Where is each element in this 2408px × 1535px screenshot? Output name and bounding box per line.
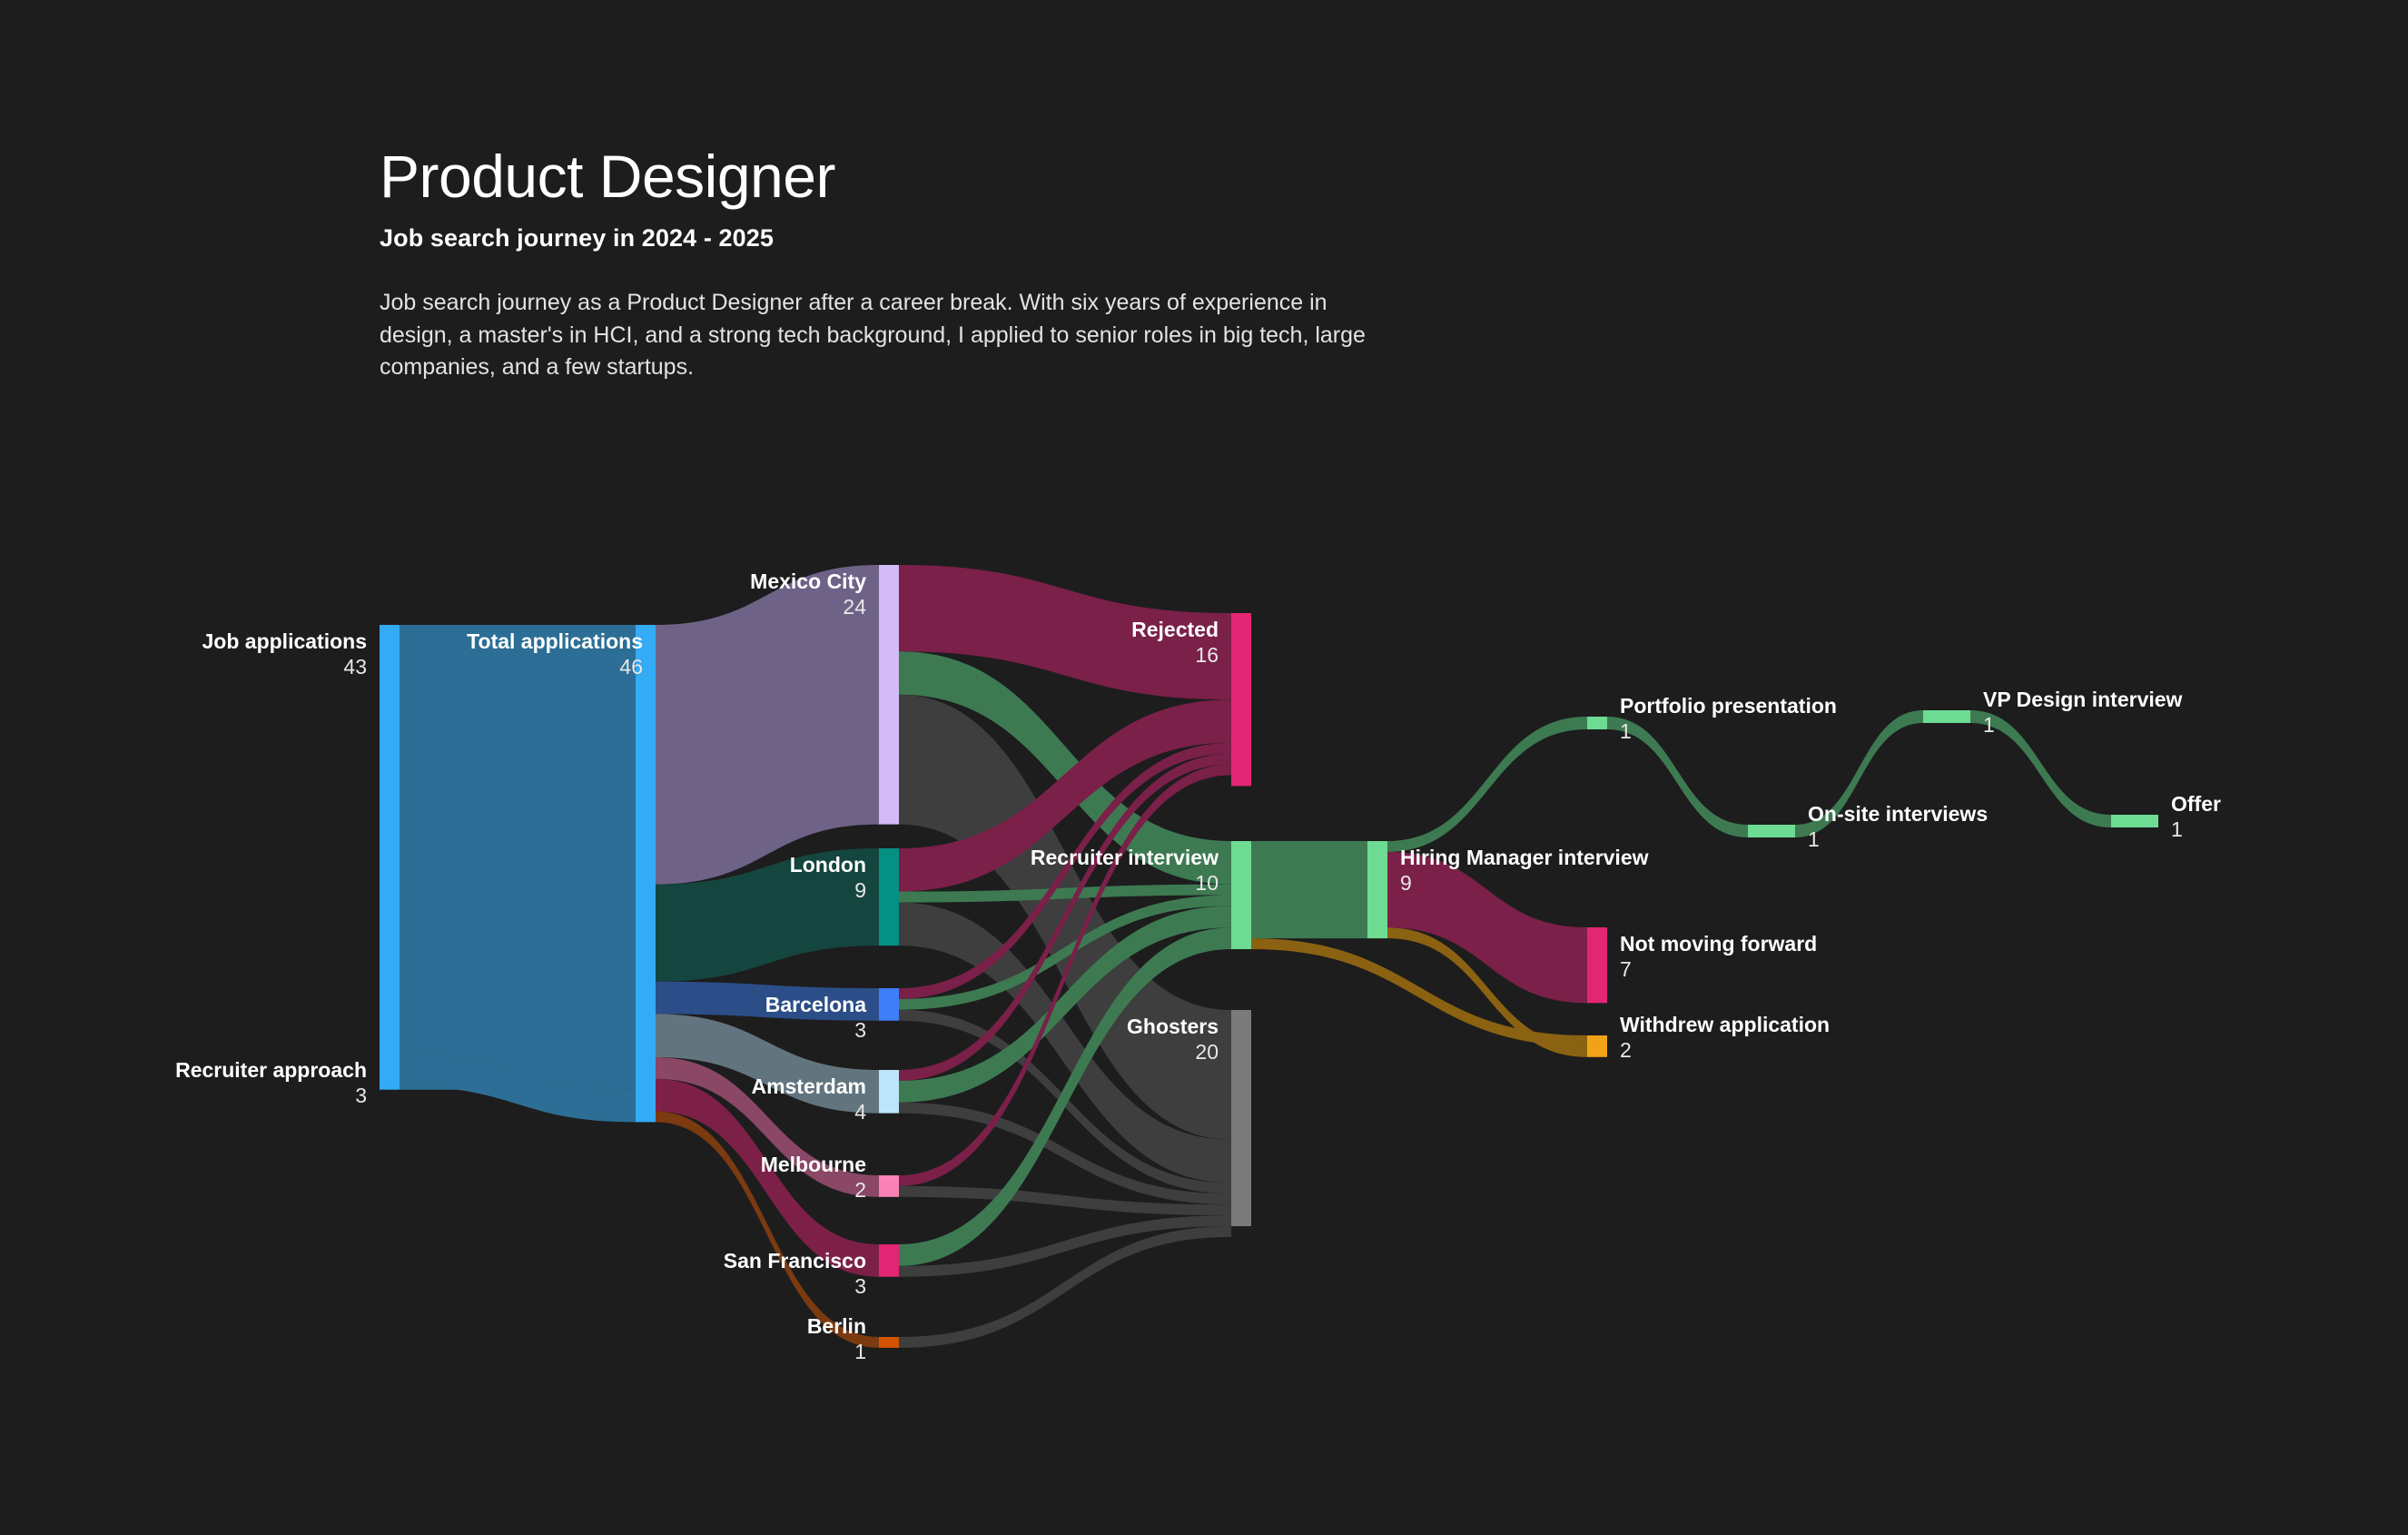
- sankey-node-label-job_applications: Job applications43: [202, 629, 367, 678]
- node-label-name: San Francisco: [724, 1249, 866, 1273]
- sankey-node-label-recruiter_approach: Recruiter approach3: [175, 1058, 367, 1107]
- sankey-node-label-portfolio_presentation: Portfolio presentation1: [1620, 694, 1837, 743]
- sankey-link: [899, 754, 1231, 1081]
- sankey-node-label-melbourne: Melbourne2: [761, 1153, 866, 1202]
- sankey-node-san_francisco[interactable]: [879, 1244, 899, 1277]
- node-label-name: Withdrew application: [1620, 1013, 1830, 1036]
- sankey-link: [899, 1226, 1231, 1348]
- node-label-value: 16: [1195, 643, 1219, 667]
- sankey-node-label-offer: Offer1: [2171, 792, 2221, 841]
- sankey-node-label-mexico_city: Mexico City24: [750, 569, 866, 619]
- node-label-name: Job applications: [202, 629, 367, 653]
- sankey-link: [899, 765, 1231, 1186]
- page-description: Job search journey as a Product Designer…: [380, 287, 1369, 384]
- sankey-link: [1607, 717, 1748, 837]
- sankey-node-label-ghosters: Ghosters20: [1127, 1015, 1219, 1064]
- chart-header: Product Designer Job search journey in 2…: [380, 145, 1651, 384]
- node-label-name: Hiring Manager interview: [1400, 846, 1649, 869]
- sankey-node-rejected[interactable]: [1231, 613, 1251, 786]
- node-label-value: 3: [355, 1084, 367, 1107]
- node-label-name: Berlin: [807, 1314, 866, 1338]
- sankey-link: [656, 1079, 879, 1277]
- sankey-link: [1970, 710, 2111, 827]
- sankey-node-recruiter_approach[interactable]: [380, 1054, 400, 1086]
- node-label-value: 1: [854, 1340, 866, 1363]
- node-label-value: 24: [843, 595, 866, 619]
- sankey-node-label-rejected: Rejected16: [1131, 618, 1219, 667]
- sankey-node-label-total_applications: Total applications46: [467, 629, 643, 678]
- node-label-name: London: [790, 853, 866, 876]
- sankey-link: [1387, 852, 1587, 1003]
- node-label-value: 9: [1400, 871, 1412, 895]
- sankey-link: [656, 1014, 879, 1113]
- sankey-node-label-london: London9: [790, 853, 866, 902]
- sankey-node-mexico_city[interactable]: [879, 565, 899, 825]
- sankey-link: [899, 1215, 1231, 1277]
- sankey-link: [899, 1103, 1231, 1205]
- sankey-link: [400, 1054, 636, 1122]
- sankey-link: [1795, 710, 1923, 837]
- sankey-node-label-recruiter_interview: Recruiter interview10: [1031, 846, 1219, 895]
- sankey-node-hiring_manager[interactable]: [1367, 841, 1387, 938]
- node-label-name: Melbourne: [761, 1153, 866, 1176]
- sankey-link: [656, 565, 879, 885]
- sankey-link: [1251, 938, 1587, 1046]
- sankey-link: [899, 896, 1231, 1010]
- sankey-node-melbourne[interactable]: [879, 1175, 899, 1197]
- sankey-node-portfolio_presentation[interactable]: [1587, 717, 1607, 729]
- node-label-value: 1: [1808, 827, 1820, 851]
- sankey-link: [656, 982, 879, 1021]
- node-label-value: 3: [854, 1274, 866, 1298]
- sankey-nodes: [380, 565, 2158, 1348]
- sankey-node-ghosters[interactable]: [1231, 1010, 1251, 1226]
- sankey-node-label-vp_design_interview: VP Design interview1: [1983, 688, 2183, 737]
- node-label-name: Portfolio presentation: [1620, 694, 1837, 718]
- node-label-name: Ghosters: [1127, 1015, 1219, 1038]
- sankey-link: [1251, 841, 1367, 938]
- node-label-value: 43: [343, 655, 367, 678]
- sankey-link: [899, 1186, 1231, 1215]
- node-label-name: VP Design interview: [1983, 688, 2183, 711]
- node-label-value: 46: [619, 655, 643, 678]
- sankey-node-withdrew_application[interactable]: [1587, 1035, 1607, 1057]
- sankey-node-total_applications[interactable]: [636, 625, 656, 1122]
- sankey-node-label-berlin: Berlin1: [807, 1314, 866, 1363]
- node-label-name: Rejected: [1131, 618, 1219, 641]
- node-label-name: Recruiter approach: [175, 1058, 367, 1082]
- sankey-node-label-barcelona: Barcelona3: [765, 993, 866, 1042]
- sankey-link: [656, 1112, 879, 1348]
- sankey-link: [899, 695, 1231, 1140]
- node-label-value: 3: [854, 1018, 866, 1042]
- page-title: Product Designer: [380, 145, 1651, 208]
- sankey-link: [899, 743, 1231, 999]
- sankey-node-not_moving_forward[interactable]: [1587, 927, 1607, 1003]
- node-label-name: Mexico City: [750, 569, 866, 593]
- page-subtitle: Job search journey in 2024 - 2025: [380, 224, 1651, 253]
- node-label-name: Barcelona: [765, 993, 866, 1016]
- sankey-link: [899, 699, 1231, 891]
- sankey-node-berlin[interactable]: [879, 1337, 899, 1348]
- sankey-link: [899, 906, 1231, 1102]
- node-label-name: Total applications: [467, 629, 643, 653]
- node-label-value: 7: [1620, 957, 1632, 981]
- sankey-node-recruiter_interview[interactable]: [1231, 841, 1251, 949]
- sankey-node-label-withdrew_application: Withdrew application2: [1620, 1013, 1830, 1062]
- sankey-labels: Job applications43Recruiter approach3Tot…: [175, 569, 2221, 1363]
- sankey-node-job_applications[interactable]: [380, 625, 400, 1090]
- sankey-node-amsterdam[interactable]: [879, 1070, 899, 1114]
- node-label-value: 20: [1195, 1040, 1219, 1064]
- sankey-node-label-onsite_interviews: On-site interviews1: [1808, 802, 1988, 851]
- chart-canvas: Product Designer Job search journey in 2…: [0, 0, 2408, 1535]
- node-label-name: Amsterdam: [751, 1074, 866, 1098]
- sankey-node-london[interactable]: [879, 848, 899, 946]
- sankey-node-label-san_francisco: San Francisco3: [724, 1249, 866, 1298]
- sankey-link: [899, 885, 1231, 903]
- sankey-node-label-not_moving_forward: Not moving forward7: [1620, 932, 1817, 981]
- node-label-name: On-site interviews: [1808, 802, 1988, 826]
- sankey-link: [656, 848, 879, 982]
- sankey-node-label-hiring_manager: Hiring Manager interview9: [1400, 846, 1649, 895]
- node-label-value: 10: [1195, 871, 1219, 895]
- sankey-link: [899, 903, 1231, 1183]
- node-label-name: Recruiter interview: [1031, 846, 1219, 869]
- node-label-name: Offer: [2171, 792, 2221, 816]
- sankey-link: [400, 625, 636, 1090]
- node-label-value: 2: [854, 1178, 866, 1202]
- sankey-link: [899, 927, 1231, 1266]
- sankey-link: [899, 651, 1231, 884]
- sankey-link: [1387, 927, 1587, 1057]
- sankey-link: [1387, 717, 1587, 852]
- node-label-name: Not moving forward: [1620, 932, 1817, 956]
- sankey-link: [899, 1010, 1231, 1194]
- node-label-value: 2: [1620, 1038, 1632, 1062]
- sankey-link: [656, 1057, 879, 1197]
- node-label-value: 4: [854, 1100, 866, 1124]
- sankey-links: [400, 565, 2111, 1348]
- node-label-value: 1: [2171, 817, 2183, 841]
- sankey-node-barcelona[interactable]: [879, 988, 899, 1021]
- sankey-link: [899, 565, 1231, 699]
- sankey-node-onsite_interviews[interactable]: [1748, 825, 1795, 837]
- sankey-node-label-amsterdam: Amsterdam4: [751, 1074, 866, 1124]
- sankey-node-vp_design_interview[interactable]: [1923, 710, 1970, 723]
- node-label-value: 1: [1983, 713, 1995, 737]
- sankey-node-offer[interactable]: [2111, 815, 2158, 827]
- node-label-value: 9: [854, 878, 866, 902]
- node-label-value: 1: [1620, 719, 1632, 743]
